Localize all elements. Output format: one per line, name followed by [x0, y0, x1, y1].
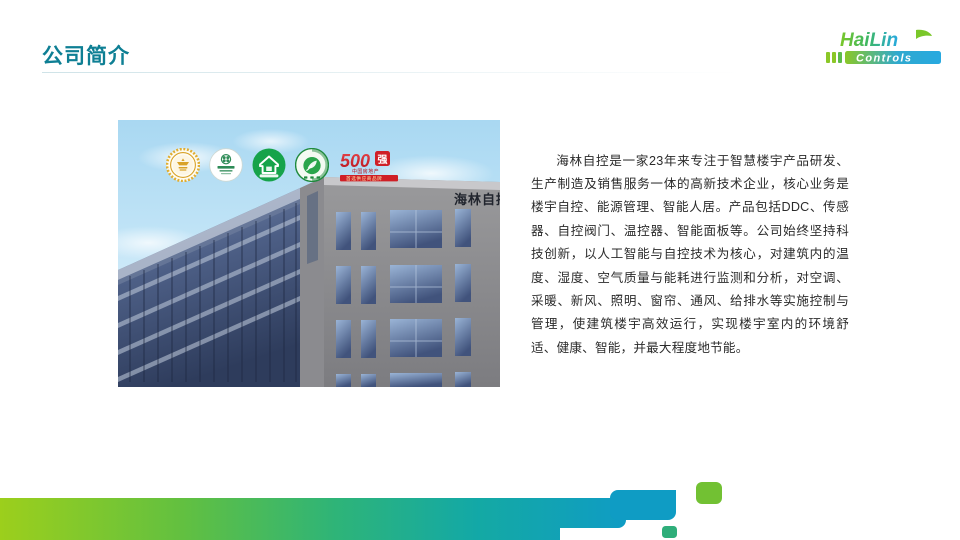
svg-text:HaiLin: HaiLin: [840, 30, 898, 51]
svg-text:强: 强: [378, 154, 388, 166]
top-500-badge: 500 强 中国房地产 首选供应商品牌: [338, 148, 400, 182]
green-building-badge: [252, 148, 286, 182]
brand-certificate-badge: [209, 148, 243, 182]
svg-text:海林自控: 海林自控: [454, 192, 500, 208]
company-description-paragraph: 海林自控是一家23年来专注于智慧楼宇产品研发、生产制造及销售服务一体的高新技术企…: [531, 150, 849, 361]
certification-badges: 500 强 中国房地产 首选供应商品牌: [166, 148, 400, 182]
svg-text:首选供应商品牌: 首选供应商品牌: [346, 175, 382, 182]
footer-decoration: [0, 468, 960, 540]
gold-award-badge: [166, 148, 200, 182]
title-divider: [42, 72, 742, 73]
svg-text:500: 500: [340, 151, 370, 171]
page-title: 公司简介: [42, 40, 130, 70]
hailin-controls-logo: HaiLin Controls: [820, 26, 948, 70]
environment-label-badge: [295, 148, 329, 182]
company-headquarters-photo: 海林自控: [118, 120, 500, 387]
slide-root: 公司简介 HaiLin: [0, 0, 960, 540]
svg-text:Controls: Controls: [856, 53, 912, 65]
svg-text:中国房地产: 中国房地产: [352, 168, 379, 175]
